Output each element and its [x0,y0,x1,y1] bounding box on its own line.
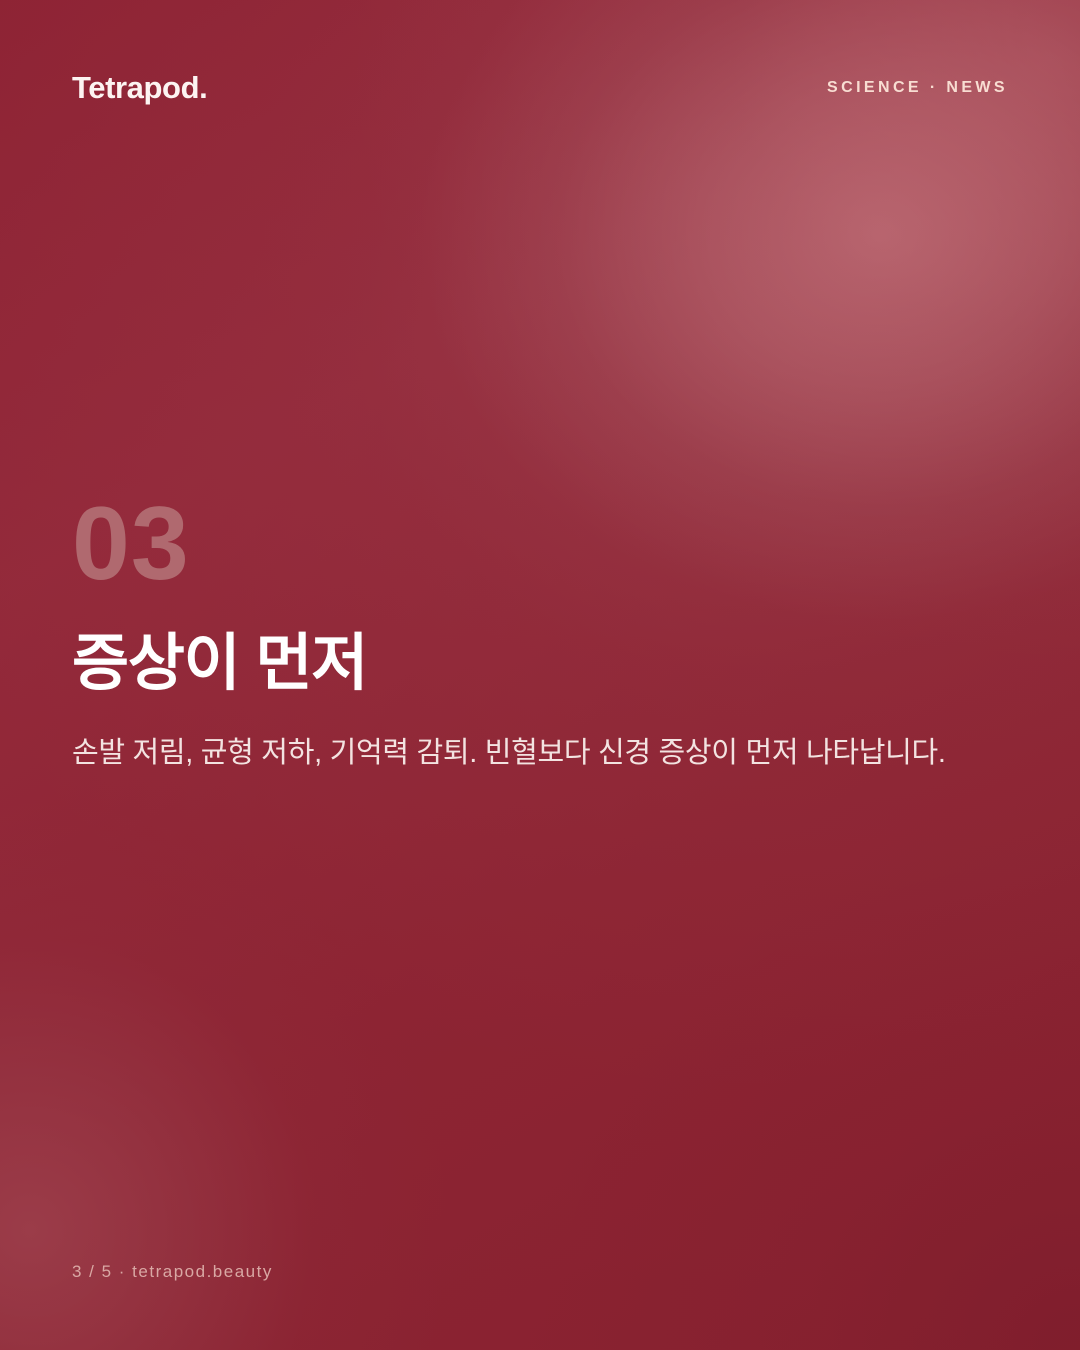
body-text: 손발 저림, 균형 저하, 기억력 감퇴. 빈혈보다 신경 증상이 먼저 나타납… [72,730,1016,777]
category-kicker: SCIENCE · NEWS [827,80,1008,96]
footer-caption: 3 / 5 · tetrapod.beauty [72,1262,273,1282]
page-title: 증상이 먼저 [72,631,1016,697]
brand-logo: Tetrapod. [72,72,207,103]
slide-content: 03 증상이 먼저 손발 저림, 균형 저하, 기억력 감퇴. 빈혈보다 신경 … [72,497,1016,777]
slide-canvas: Tetrapod. SCIENCE · NEWS 03 증상이 먼저 손발 저림… [0,0,1080,1350]
step-number: 03 [72,497,1016,593]
slide-header: Tetrapod. SCIENCE · NEWS [72,72,1008,103]
